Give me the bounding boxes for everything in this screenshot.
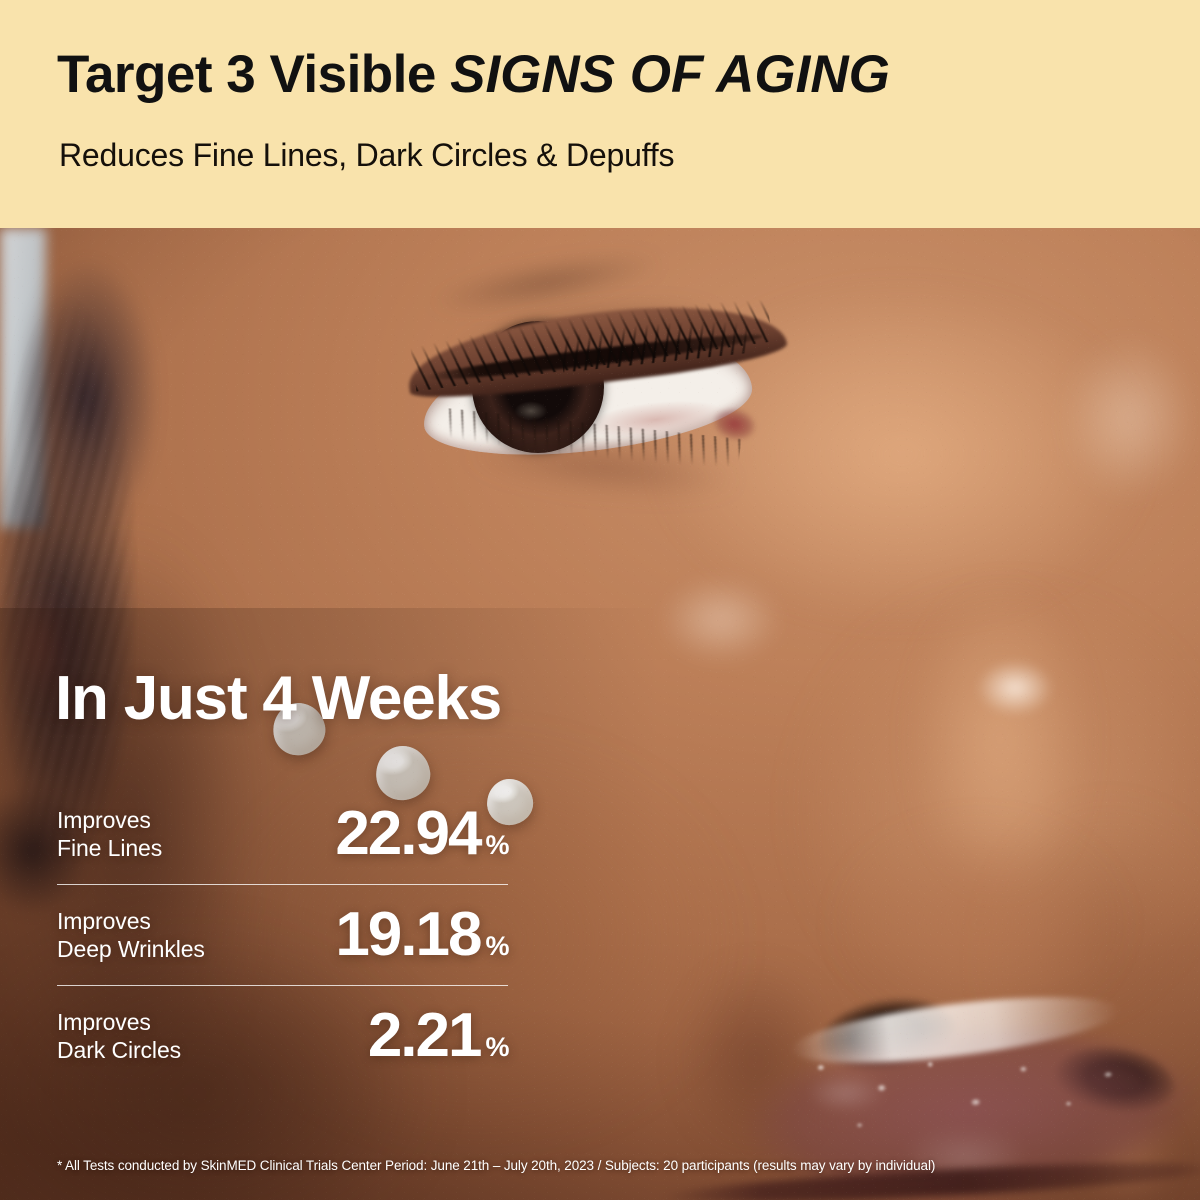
percent-symbol: % [485, 832, 509, 859]
stat-value: 2.21 % [267, 1005, 509, 1067]
nose-highlight-upper [960, 648, 1070, 728]
stat-label: ImprovesFine Lines [57, 806, 267, 862]
results-table: ImprovesFine Lines 22.94 % ImprovesDeep … [57, 784, 509, 1086]
temple-highlight [1040, 308, 1200, 528]
table-row: ImprovesFine Lines 22.94 % [57, 784, 509, 884]
stat-number: 19.18 [335, 904, 480, 966]
stat-label-line1: Improves [57, 908, 151, 934]
stat-value: 22.94 % [267, 803, 509, 865]
header-banner: Target 3 Visible SIGNS OF AGING Reduces … [0, 0, 1200, 228]
page-title: Target 3 Visible SIGNS OF AGING [57, 48, 890, 101]
stat-label-line2: Dark Circles [57, 1037, 181, 1063]
stat-label-line2: Fine Lines [57, 835, 162, 861]
ad-creative: Target 3 Visible SIGNS OF AGING Reduces … [0, 0, 1200, 1200]
cheek-highlight [636, 560, 806, 680]
results-title: In Just 4 Weeks [55, 668, 501, 730]
table-row: ImprovesDeep Wrinkles 19.18 % [57, 885, 509, 985]
table-row: ImprovesDark Circles 2.21 % [57, 986, 509, 1086]
stat-number: 2.21 [368, 1005, 481, 1067]
stat-value: 19.18 % [267, 904, 509, 966]
stat-label: ImprovesDark Circles [57, 1008, 267, 1064]
percent-symbol: % [485, 1034, 509, 1061]
stat-label: ImprovesDeep Wrinkles [57, 907, 267, 963]
stat-label-line2: Deep Wrinkles [57, 936, 205, 962]
headline-emphasis-text: SIGNS OF AGING [450, 45, 890, 104]
headline-plain-text: Target 3 Visible [57, 45, 450, 104]
stat-label-line1: Improves [57, 1009, 151, 1035]
footnote: * All Tests conducted by SkinMED Clinica… [57, 1158, 935, 1173]
stat-label-line1: Improves [57, 807, 151, 833]
stat-number: 22.94 [335, 803, 480, 865]
page-subtitle: Reduces Fine Lines, Dark Circles & Depuf… [59, 139, 674, 171]
eye [370, 283, 840, 533]
percent-symbol: % [485, 933, 509, 960]
